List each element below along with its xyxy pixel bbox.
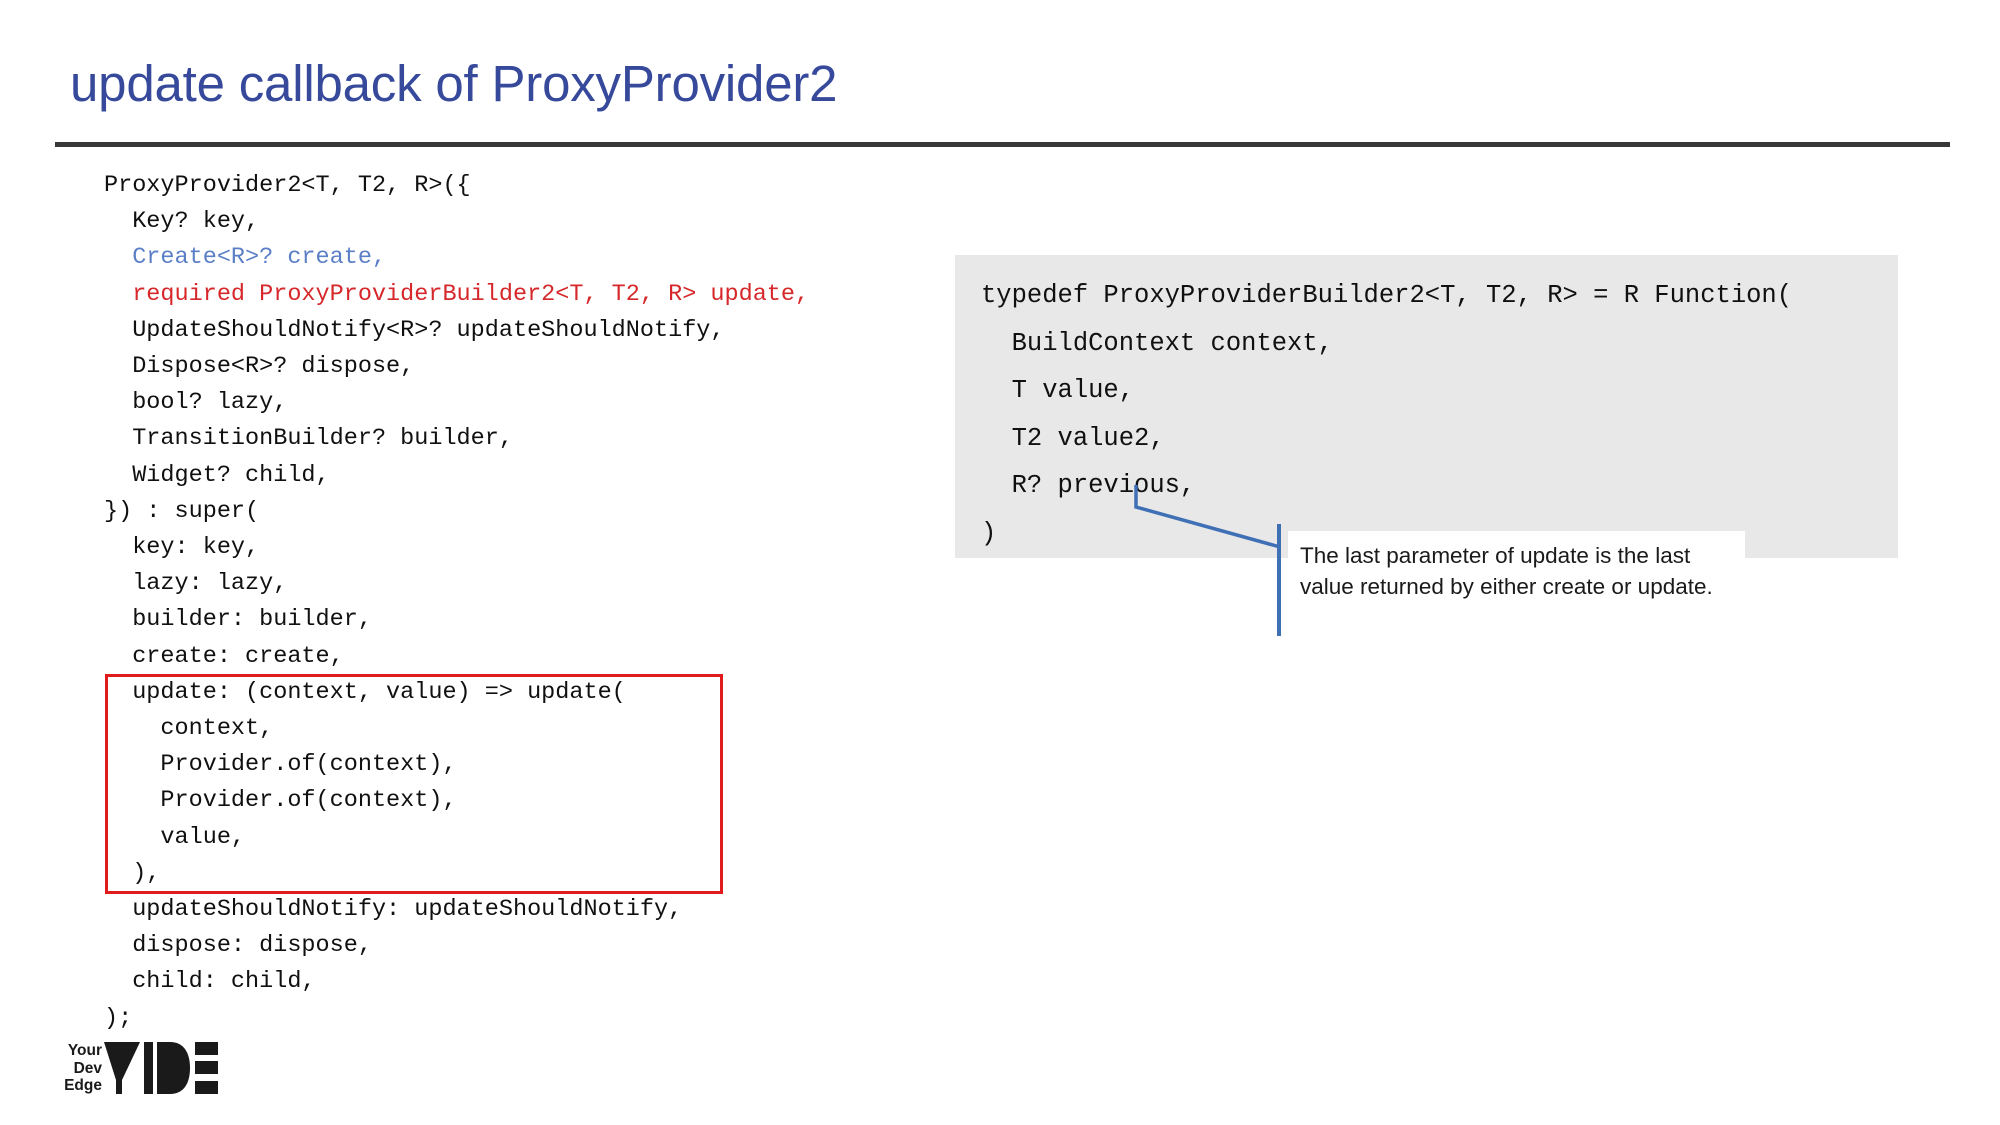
code-line: bool? lazy,: [104, 385, 809, 421]
code-line: TransitionBuilder? builder,: [104, 421, 809, 457]
code-line: lazy: lazy,: [104, 566, 809, 602]
logo-line-edge: Edge: [50, 1077, 102, 1095]
callout-accent-bar: [1277, 524, 1281, 636]
logo-line-your: Your: [50, 1042, 102, 1060]
code-line: Widget? child,: [104, 458, 809, 494]
typedef-code-block: typedef ProxyProviderBuilder2<T, T2, R> …: [955, 258, 1915, 557]
typedef-code-line: T2 value2,: [981, 415, 1915, 463]
code-line: child: child,: [104, 964, 809, 1000]
typedef-code-line: BuildContext context,: [981, 320, 1915, 368]
callout-text: The last parameter of update is the last…: [1300, 541, 1750, 602]
typedef-code-line: typedef ProxyProviderBuilder2<T, T2, R> …: [981, 272, 1915, 320]
logo-line-dev: Dev: [50, 1060, 102, 1078]
title-divider-rule: [55, 142, 1950, 147]
code-line: Key? key,: [104, 204, 809, 240]
code-line: }) : super(: [104, 494, 809, 530]
code-line: required ProxyProviderBuilder2<T, T2, R>…: [104, 277, 809, 313]
typedef-code-line: R? previous,: [981, 462, 1915, 510]
code-line: dispose: dispose,: [104, 928, 809, 964]
code-line: Dispose<R>? dispose,: [104, 349, 809, 385]
brand-logo: Your Dev Edge: [50, 1040, 218, 1096]
code-line: builder: builder,: [104, 602, 809, 638]
constructor-code-block: ProxyProvider2<T, T2, R>({ Key? key, Cre…: [104, 168, 809, 1037]
code-line: UpdateShouldNotify<R>? updateShouldNotif…: [104, 313, 809, 349]
logo-wordmark: Your Dev Edge: [50, 1042, 102, 1095]
code-line: updateShouldNotify: updateShouldNotify,: [104, 892, 809, 928]
typedef-code-line: T value,: [981, 367, 1915, 415]
code-line: Create<R>? create,: [104, 240, 809, 276]
callout-leader-path: [1136, 485, 1280, 547]
callout-leader-line: [1130, 485, 1300, 565]
code-line: create: create,: [104, 639, 809, 675]
update-callback-highlight-box: [105, 674, 723, 894]
page-title: update callback of ProxyProvider2: [70, 54, 837, 113]
code-line: ProxyProvider2<T, T2, R>({: [104, 168, 809, 204]
code-line: key: key,: [104, 530, 809, 566]
code-line: );: [104, 1001, 809, 1037]
yde-logo-icon: [104, 1040, 218, 1096]
